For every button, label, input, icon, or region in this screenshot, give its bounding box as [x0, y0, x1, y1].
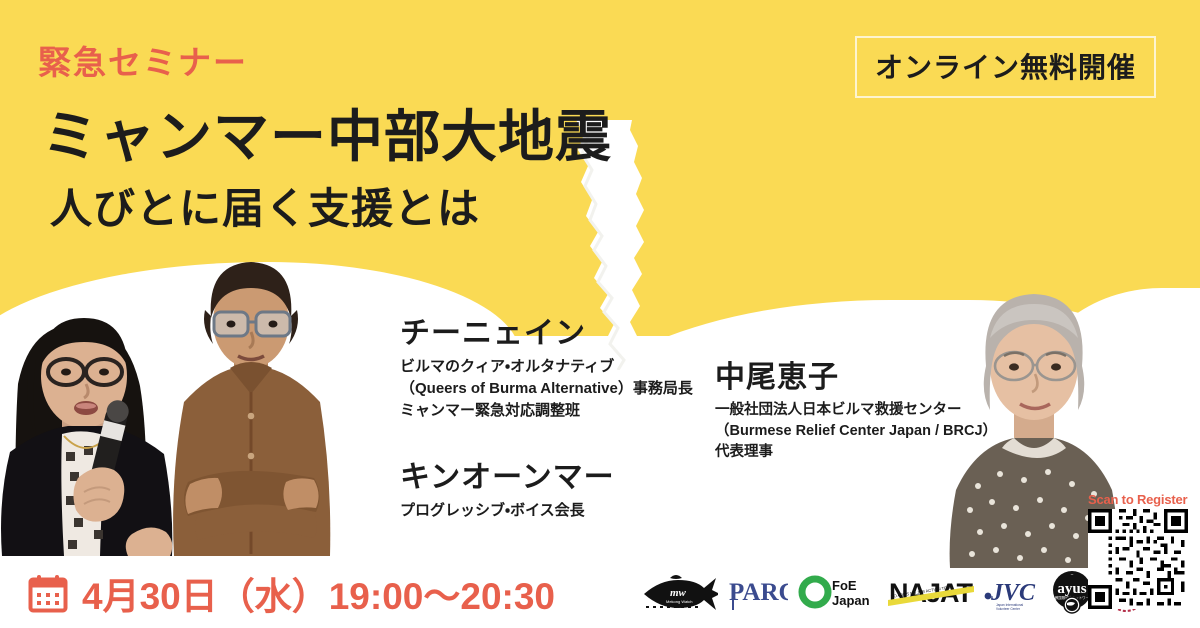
svg-text:Mekong Watch: Mekong Watch [666, 599, 693, 604]
svg-text:PARC: PARC [729, 579, 788, 606]
speaker-affiliation-line: ビルマのクィア・オルタナティブ [400, 356, 693, 378]
two-speakers-photo [0, 256, 380, 556]
speaker-affiliation-line: 代表理事 [715, 442, 997, 463]
svg-text:FoE: FoE [832, 578, 857, 593]
speaker-affiliation-line: ミャンマー緊急対応調整班 [400, 400, 693, 422]
speaker-name: 中尾恵子 [715, 352, 997, 396]
speaker-name: チーニェイン [400, 308, 693, 352]
calendar-icon [28, 573, 68, 613]
foe-japan-logo: FoE Japan [798, 569, 878, 615]
seminar-banner: 緊急セミナー ミャンマー中部大地震 人びとに届く支援とは オンライン無料開催 [0, 0, 1200, 628]
date-time-bar: 4月30日（水）19:00〜20:30 [28, 566, 555, 620]
qr-label: Scan to Register [1088, 492, 1192, 507]
kicker-text: 緊急セミナー [38, 36, 248, 84]
speaker-affiliation-line: （Queers of Burma Alternative）事務局長 [400, 378, 693, 400]
qr-register-block[interactable]: Scan to Register [1088, 492, 1192, 609]
speaker-block-3: 中尾恵子 一般社団法人日本ビルマ救援センター （Burmese Relief C… [715, 352, 997, 463]
speaker-name: キンオーンマー [400, 452, 615, 496]
svg-text:Japan: Japan [832, 593, 870, 608]
jvc-logo: JVC Japan International Volunteer Center [984, 569, 1040, 615]
speaker-affiliation-line: プログレッシブ・ボイス会長 [400, 500, 615, 522]
parc-logo: PARC [728, 569, 788, 615]
svg-text:ayus: ayus [1057, 581, 1086, 597]
online-free-badge: オンライン無料開催 [855, 36, 1156, 98]
mekong-watch-logo: mw Mekong Watch [640, 569, 718, 615]
najat-logo: NAJAT NO ARMS NO JOB ACTION TEAM NAJAT [888, 569, 974, 615]
svg-text:mw: mw [670, 587, 687, 599]
qr-code[interactable] [1088, 509, 1188, 609]
page-subtitle: 人びとに届く支援とは [50, 175, 480, 236]
speaker-affiliation-line: （Burmese Relief Center Japan / BRCJ） [715, 421, 997, 442]
speaker-affiliation-line: 一般社団法人日本ビルマ救援センター [715, 400, 997, 421]
badge-label: オンライン無料開催 [875, 46, 1136, 86]
page-title: ミャンマー中部大地震 [42, 92, 612, 173]
speaker-block-1: チーニェイン ビルマのクィア・オルタナティブ （Queers of Burma … [400, 308, 693, 421]
event-datetime: 4月30日（水）19:00〜20:30 [82, 566, 555, 620]
speaker-block-2: キンオーンマー プログレッシブ・ボイス会長 [400, 452, 615, 522]
sponsor-logos: mw Mekong Watch PARC FoE Japan [640, 566, 1148, 618]
svg-text:Volunteer Center: Volunteer Center [996, 607, 1021, 611]
